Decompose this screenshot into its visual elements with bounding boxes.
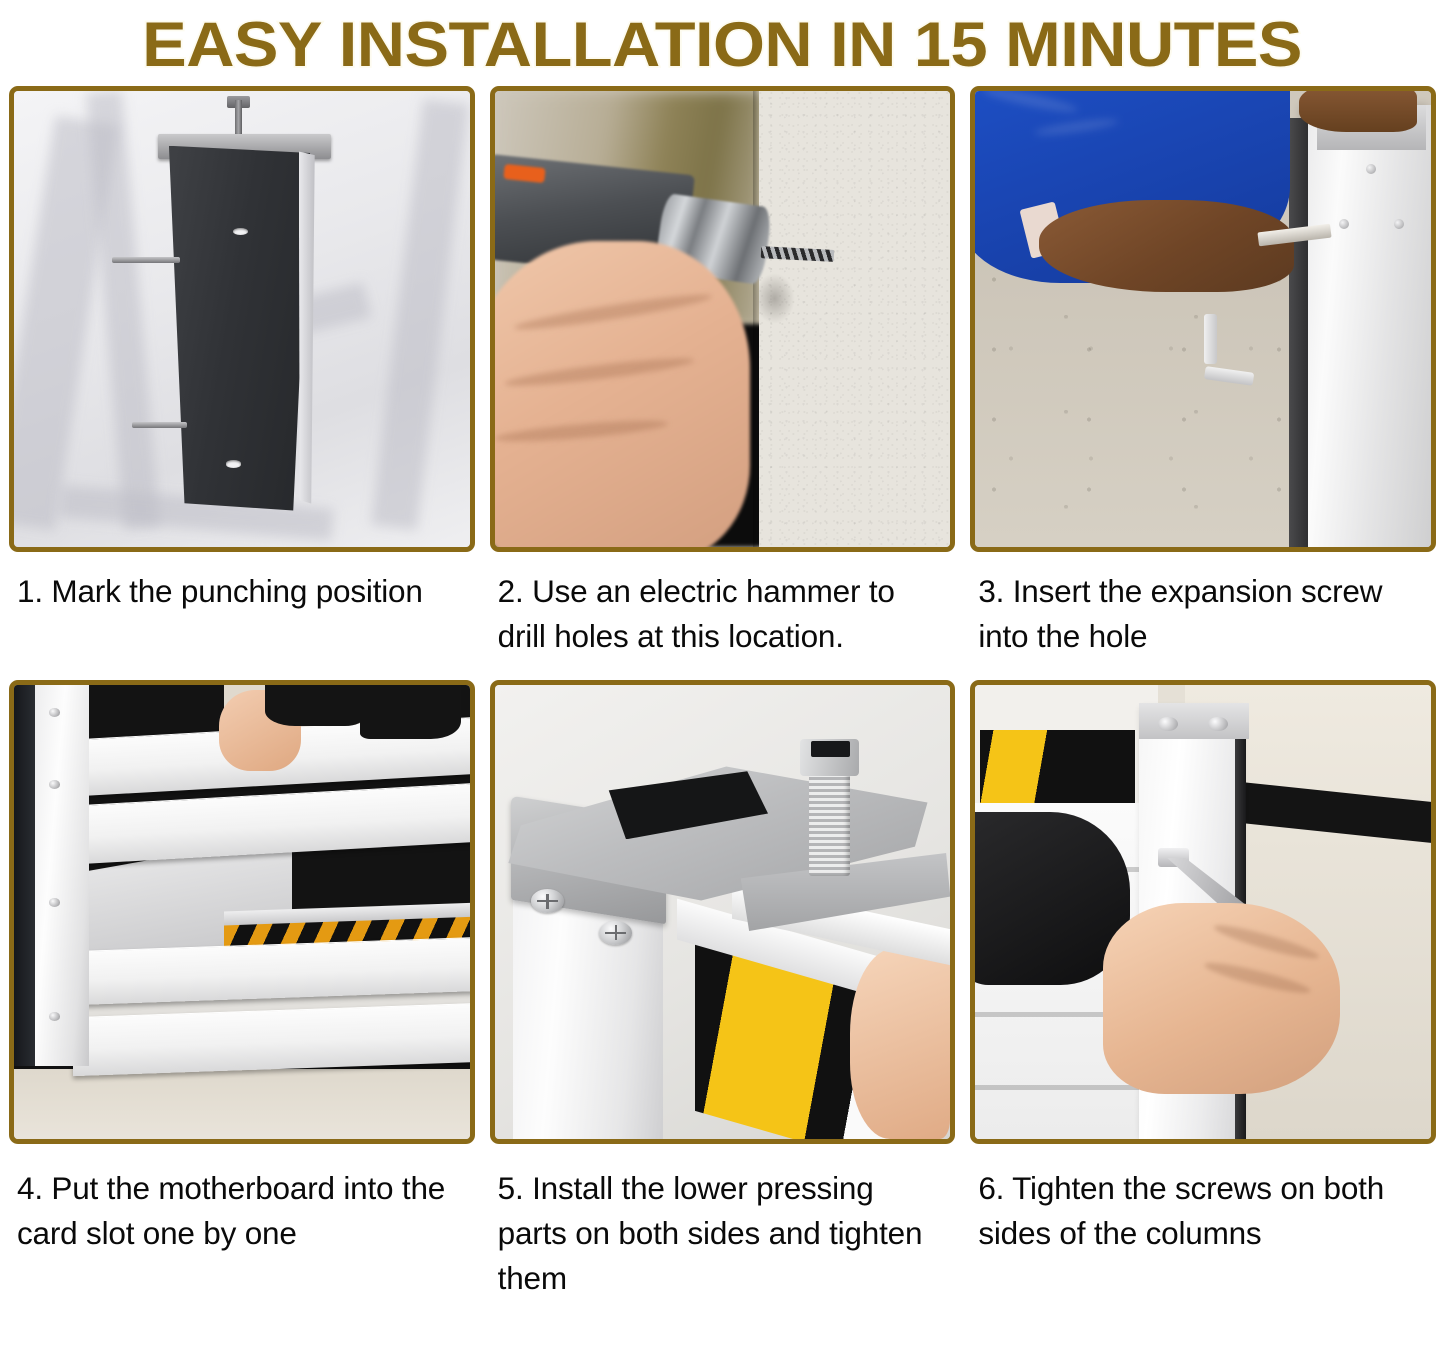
step-card-3: 3. Insert the expansion screw into the h… — [970, 86, 1436, 680]
photo-drill-holes — [495, 91, 951, 547]
step-photo-frame-6 — [970, 680, 1436, 1144]
hex-key-icon — [1194, 314, 1253, 378]
step-caption-2: 2. Use an electric hammer to drill holes… — [490, 552, 956, 680]
white-column — [513, 885, 663, 1139]
photo-insert-boards — [14, 685, 470, 1139]
step-photo-frame-5 — [490, 680, 956, 1144]
step-caption-1: 1. Mark the punching position — [9, 552, 475, 680]
phillips-screw — [531, 889, 564, 913]
photo-insert-expansion-screw — [975, 91, 1431, 547]
photo-mark-punching-position — [14, 91, 470, 547]
side-bolt-upper — [112, 257, 180, 264]
step-photo-frame-2 — [490, 86, 956, 552]
mounting-post — [169, 146, 310, 511]
operator-hand — [495, 241, 750, 547]
step-photo-frame-1 — [9, 86, 475, 552]
step-caption-6: 6. Tighten the screws on both sides of t… — [970, 1144, 1436, 1256]
phillips-screw — [1208, 717, 1228, 732]
top-stud — [235, 100, 242, 139]
step-card-1: 1. Mark the punching position — [9, 86, 475, 680]
step-photo-frame-4 — [9, 680, 475, 1144]
step-caption-3: 3. Insert the expansion screw into the h… — [970, 552, 1436, 680]
hazard-stripe — [980, 730, 1135, 803]
step-card-4: 4. Put the motherboard into the card slo… — [9, 680, 475, 1301]
step-card-2: 2. Use an electric hammer to drill holes… — [490, 86, 956, 680]
step-caption-4: 4. Put the motherboard into the card slo… — [9, 1144, 475, 1256]
step-photo-frame-3 — [970, 86, 1436, 552]
post-hole-lower — [226, 460, 241, 467]
photo-tighten-screws — [975, 685, 1431, 1139]
thumb-bolt — [809, 762, 850, 876]
step-card-5: 5. Install the lower pressing parts on b… — [490, 680, 956, 1301]
steps-row-bottom: 4. Put the motherboard into the card slo… — [6, 680, 1439, 1301]
side-bolt-lower — [132, 422, 187, 429]
installer-arm — [1039, 200, 1294, 291]
step-caption-5: 5. Install the lower pressing parts on b… — [490, 1144, 956, 1301]
page-title: EASY INSTALLATION IN 15 MINUTES — [143, 14, 1303, 77]
steps-row-top: 1. Mark the punching position — [6, 86, 1439, 680]
infographic-sheet: EASY INSTALLATION IN 15 MINUTES — [0, 0, 1445, 1352]
operator-hand — [850, 948, 950, 1139]
title-banner: EASY INSTALLATION IN 15 MINUTES — [6, 0, 1439, 86]
phillips-screw — [599, 921, 632, 945]
column-slot — [35, 685, 90, 1066]
phillips-screw — [1158, 717, 1178, 732]
step-card-6: 6. Tighten the screws on both sides of t… — [970, 680, 1436, 1301]
photo-lower-pressing-parts — [495, 685, 951, 1139]
